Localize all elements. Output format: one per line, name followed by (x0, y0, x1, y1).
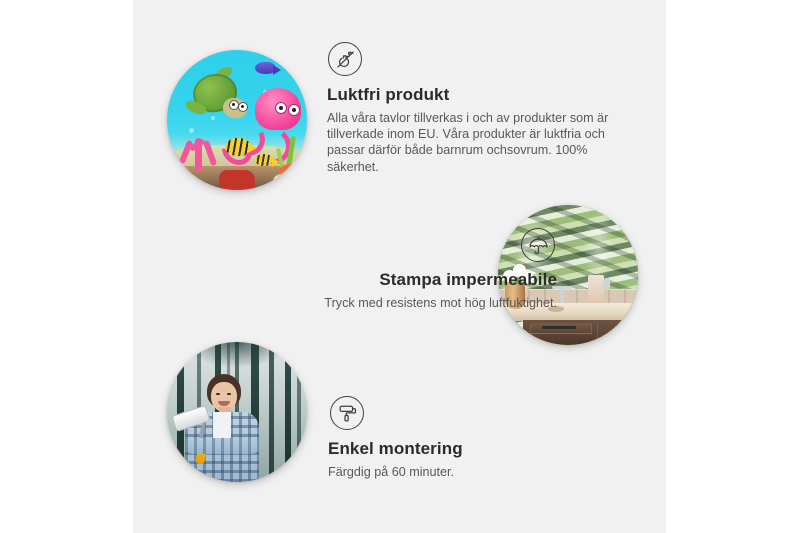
octopus-eye (288, 104, 300, 116)
eye (227, 393, 231, 395)
feature-body: Alla våra tavlor tillverkas i och av pro… (327, 110, 617, 176)
infographic-canvas: Luktfri produkt Alla våra tavlor tillver… (133, 0, 666, 533)
underwater-artwork (167, 50, 307, 190)
seashell-icon (273, 174, 289, 188)
forest-artwork (167, 342, 307, 482)
wooden-cabinet (523, 320, 638, 345)
feature-body: Tryck med resistens mot hög luftfuktighe… (217, 295, 557, 311)
red-rock (219, 170, 255, 190)
underwater-cartoon-medallion (167, 50, 307, 190)
paint-roller-icon (330, 396, 364, 430)
soap-dispenser (603, 278, 610, 291)
woman-with-roller (185, 374, 259, 482)
feature-body: Färgdig på 60 minuter. (328, 464, 628, 480)
feature-title: Stampa impermeabile (217, 270, 557, 290)
feature-easy-mounting: Enkel montering Färgdig på 60 minuter. (328, 396, 628, 480)
octopus-eye (275, 102, 287, 114)
faucet-icon (560, 286, 564, 304)
feature-title: Enkel montering (328, 439, 628, 459)
feature-odour-free: Luktfri produkt Alla våra tavlor tillver… (327, 42, 617, 175)
feature-waterproof-print: Stampa impermeabile Tryck med resistens … (217, 228, 557, 311)
door-handle (624, 325, 627, 336)
folded-arms (185, 438, 259, 454)
feature-title: Luktfri produkt (327, 85, 617, 105)
pink-coral (179, 128, 219, 172)
blue-fish-icon (255, 62, 275, 74)
screenshot-root: Luktfri produkt Alla våra tavlor tillver… (0, 0, 800, 533)
forest-mural-medallion (167, 342, 307, 482)
umbrella-icon (521, 228, 555, 262)
bubble-icon (211, 116, 215, 120)
drawer-handle (542, 326, 576, 329)
turtle-eye (238, 102, 248, 112)
small-fish-icon (255, 154, 273, 166)
no-perfume-icon (328, 42, 362, 76)
eye (216, 393, 220, 395)
yellow-fish-icon (225, 138, 251, 156)
